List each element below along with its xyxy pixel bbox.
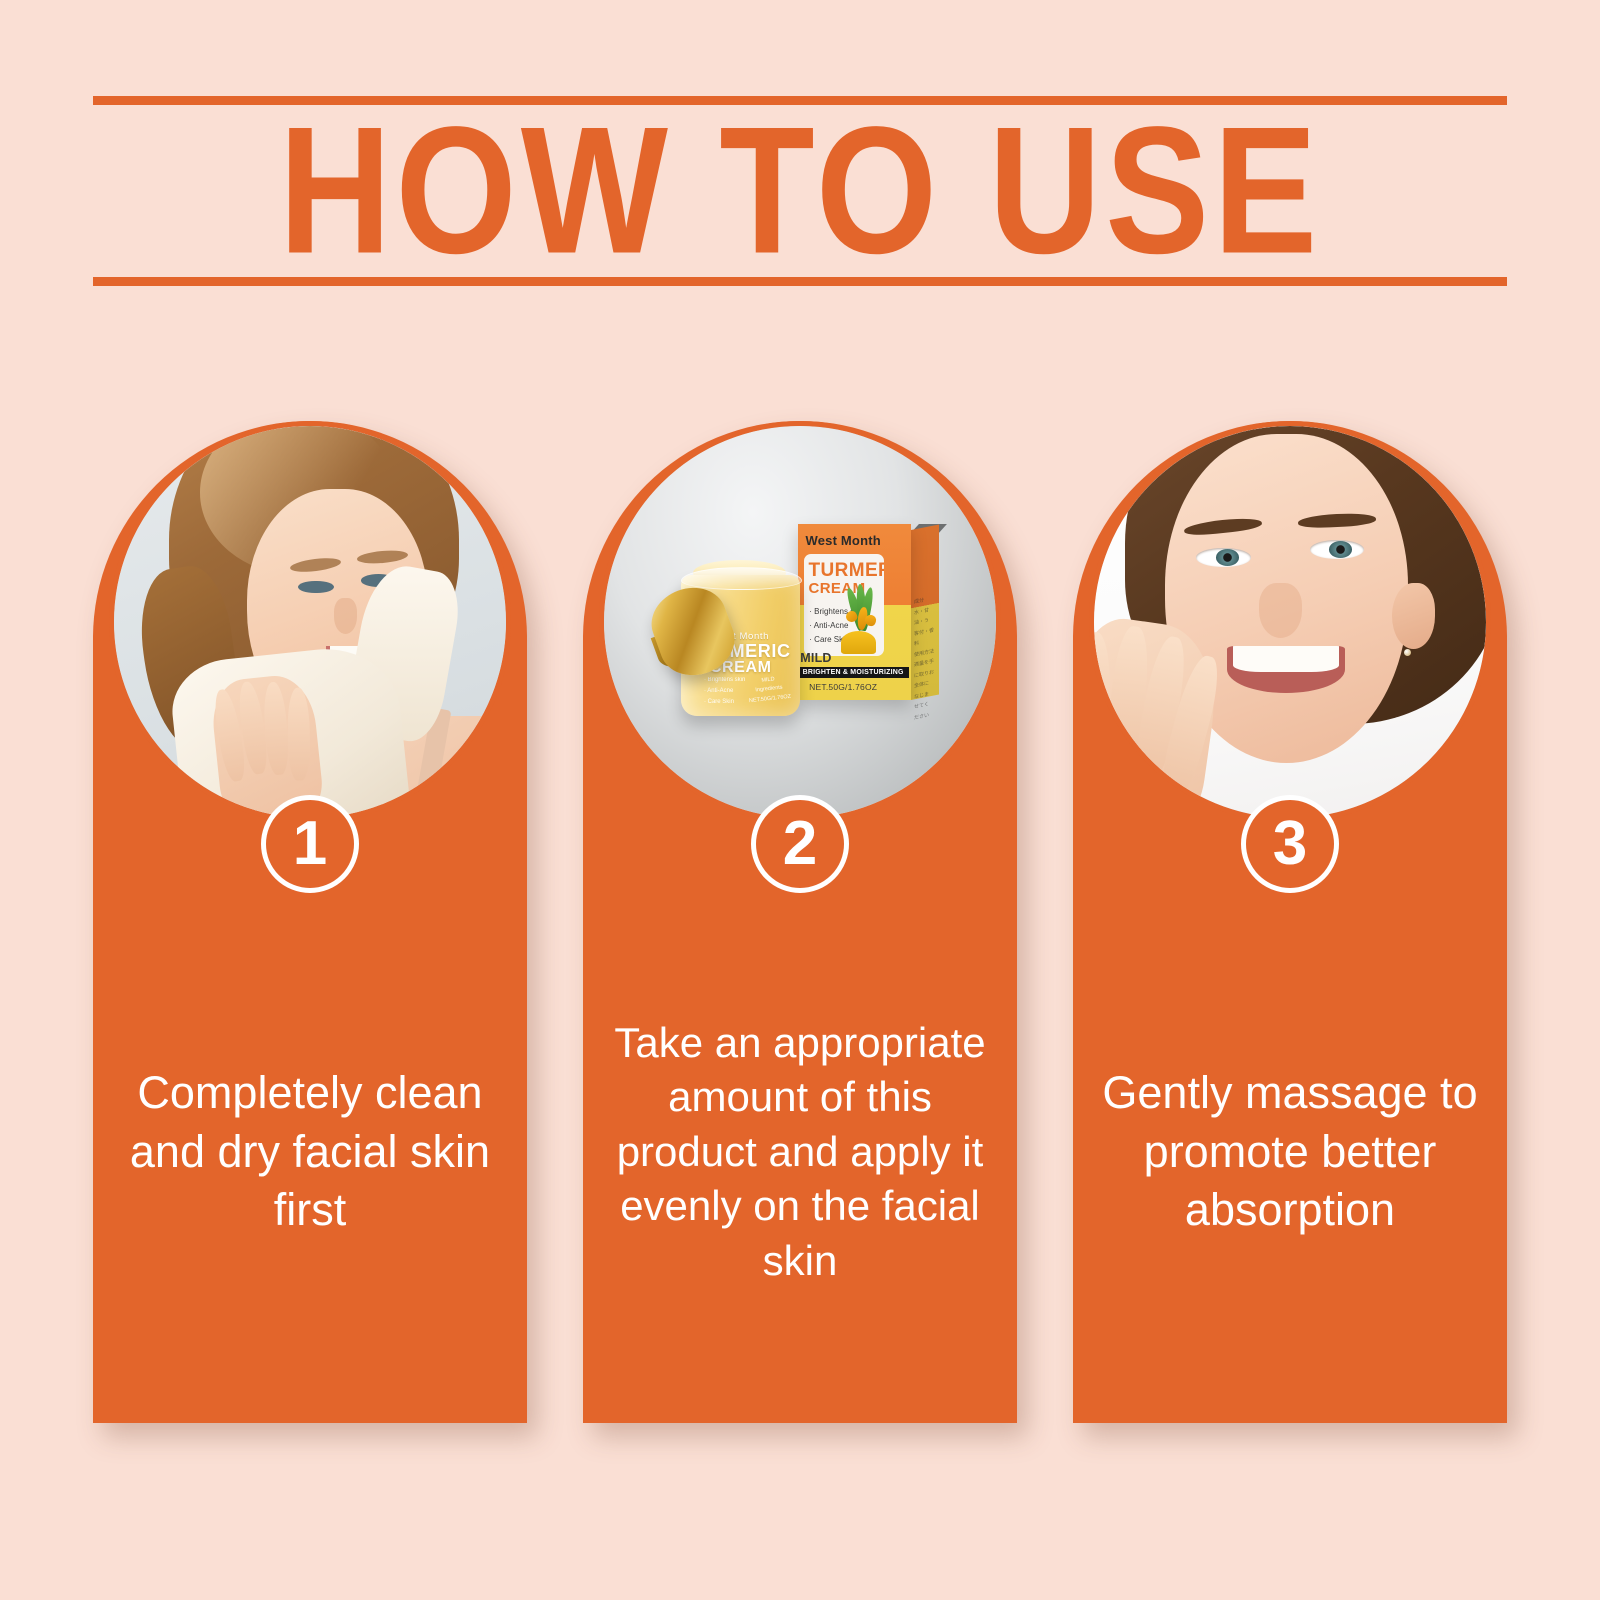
step-number-badge-3: 3 [1241,795,1339,893]
step-number-badge-2: 2 [751,795,849,893]
step-caption-2: Take an appropriate amount of this produ… [601,921,999,1383]
step-card-2[interactable]: 成分 水・甘油・う 客付・香料 使用方法 適量を手 に取りお 全体に なじま せ… [583,421,1017,1423]
carton-side-text: 成分 水・甘油・う 客付・香料 使用方法 適量を手 に取りお 全体に なじま せ… [914,592,938,723]
step-photo-3 [1089,421,1491,823]
jar-mild-ingredients: MILD Ingredients NET.50G/1.76OZ [747,674,792,706]
photo-2-product-shot: 成分 水・甘油・う 客付・香料 使用方法 適量を手 に取りお 全体に なじま せ… [604,426,996,818]
photo-3-illustration [1094,426,1486,818]
product-jar: West Month TURMERIC CREAM Brightens skin… [659,555,800,716]
carton-net-weight: NET.50G/1.76OZ [798,682,888,692]
turmeric-illustration [838,587,882,655]
carton-tagline: BRIGHTEN & MOISTURIZING [798,667,909,678]
carton-brand: West Month [798,533,888,548]
step-caption-1: Completely clean and dry facial skin fir… [111,921,509,1383]
step-caption-3: Gently massage to promote better absorpt… [1091,921,1489,1383]
step-card-1[interactable]: 1 Completely clean and dry facial skin f… [93,421,527,1423]
page-title: HOW TO USE [93,81,1507,301]
step-photo-2: 成分 水・甘油・う 客付・香料 使用方法 適量を手 に取りお 全体に なじま せ… [599,421,1001,823]
jar-bullets: Brightens skin Anti-Acne Care Skin [704,675,745,707]
photo-1-illustration [114,426,506,818]
step-number-badge-1: 1 [261,795,359,893]
step-card-3[interactable]: 3 Gently massage to promote better absor… [1073,421,1507,1423]
steps-container: 1 Completely clean and dry facial skin f… [93,421,1507,1423]
product-carton: 成分 水・甘油・う 客付・香料 使用方法 適量を手 に取りお 全体に なじま せ… [798,524,939,700]
title-rule-bottom [93,277,1507,286]
carton-label: TURMERIC CREAM Brightens skin Anti-Acne … [804,554,884,656]
step-photo-1 [109,421,511,823]
title-block: HOW TO USE [93,96,1507,286]
